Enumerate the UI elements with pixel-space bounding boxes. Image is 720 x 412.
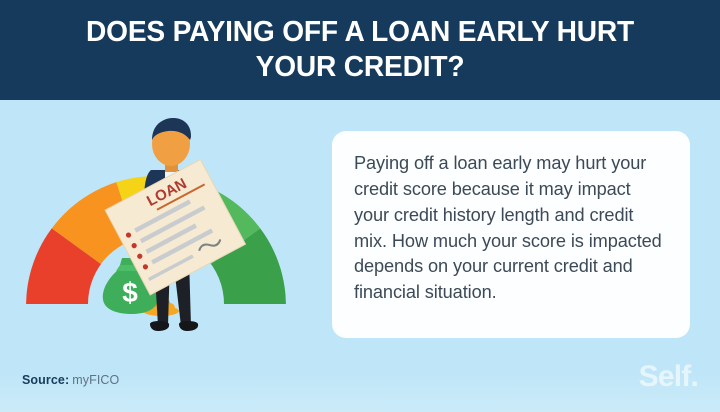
source-value: myFICO	[72, 373, 119, 387]
infographic-canvas: Does paying off a loan early hurt your c…	[0, 0, 720, 412]
person-right-shoe	[179, 321, 198, 331]
source-attribution: Source:myFICO	[22, 373, 119, 387]
money-bag-dollar-symbol: $	[122, 277, 138, 308]
credit-score-gauge-illustration: $	[18, 108, 318, 358]
source-label: Source:	[22, 373, 69, 387]
header-band: Does paying off a loan early hurt your c…	[0, 0, 720, 100]
self-brand-logo: Self.	[639, 362, 698, 392]
info-card: Paying off a loan early may hurt your cr…	[332, 131, 690, 338]
info-card-paragraph: Paying off a loan early may hurt your cr…	[354, 151, 668, 306]
page-title: Does paying off a loan early hurt your c…	[50, 15, 671, 86]
person-left-shoe	[150, 321, 169, 331]
